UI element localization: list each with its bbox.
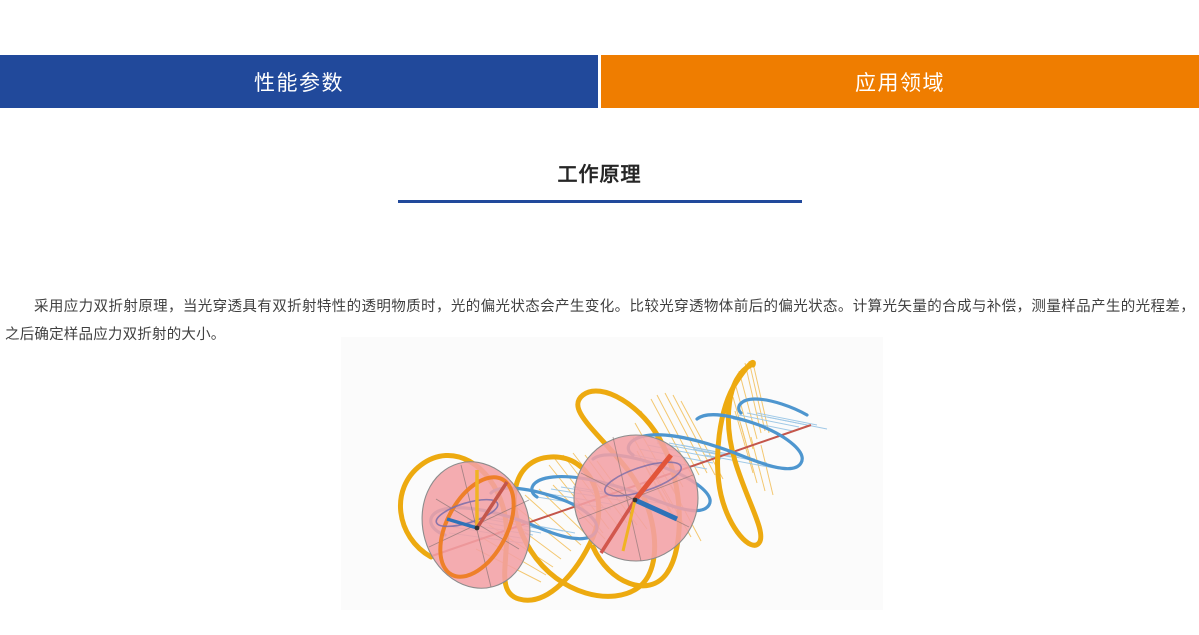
tab-application-fields[interactable]: 应用领域 — [601, 55, 1199, 108]
tab-application-fields-label: 应用领域 — [855, 67, 945, 97]
title-underline — [398, 200, 802, 203]
tab-performance-parameters[interactable]: 性能参数 — [0, 55, 598, 108]
diagram-canvas — [341, 337, 883, 610]
section-header: 工作原理 — [0, 160, 1199, 203]
polarizer-disc-middle — [574, 435, 698, 561]
tab-bar: 性能参数 应用领域 — [0, 55, 1199, 108]
birefringence-principle-diagram — [341, 337, 883, 610]
tab-performance-parameters-label: 性能参数 — [254, 67, 344, 97]
page-title: 工作原理 — [0, 160, 1199, 190]
